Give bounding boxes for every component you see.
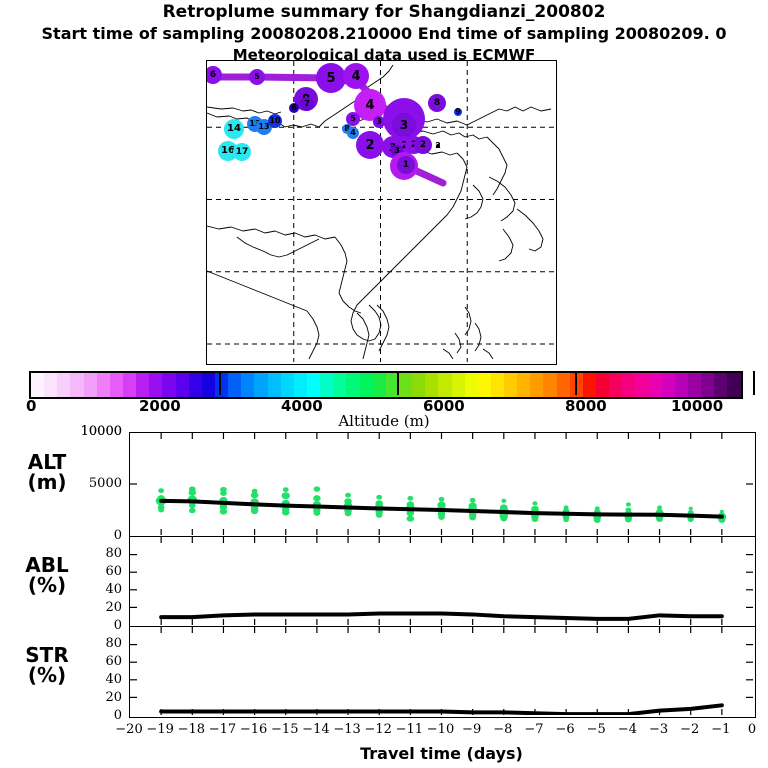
plume-marker-label: 9 [455,108,461,116]
alt-scatter-point [220,490,227,496]
sampling-times: Start time of sampling 20080208.210000 E… [0,24,768,43]
plume-marker: 3 [392,113,416,137]
x-tick-label: −20 [112,722,146,737]
plume-marker: 10 [268,114,282,128]
x-tick-label: −14 [299,722,333,737]
colorbar-swatch [399,373,412,397]
plume-marker-label: 4 [350,129,356,137]
alt-scatter-point [283,487,289,492]
colorbar-separator [575,371,577,395]
str-plot-area [130,627,753,715]
y-tick-label: 20 [60,690,122,705]
plume-marker: 6 [289,103,299,113]
colorbar-swatch [254,373,267,397]
alt-scatter-point [407,496,413,501]
page-title: Retroplume summary for Shangdianzi_20080… [0,2,768,22]
x-tick-label: −16 [237,722,271,737]
altitude-colorbar[interactable] [29,371,743,399]
alt-scatter-point [407,516,415,522]
alt-scatter-point [438,514,445,520]
colorbar-swatch [294,373,307,397]
colorbar-swatch [478,373,491,397]
alt-scatter-point [376,512,383,518]
alt-scatter-point [282,492,290,499]
alt-scatter-point [282,509,290,515]
alt-scatter-point [689,507,693,510]
x-tick-label: −13 [330,722,364,737]
colorbar-separator [219,371,221,395]
plume-marker-label: 6 [210,71,216,80]
alt-scatter-point [314,486,321,492]
y-tick-label: 0 [60,528,122,543]
colorbar-swatch [609,373,622,397]
colorbar-swatch [123,373,136,397]
x-tick-label: −19 [143,722,177,737]
colorbar-swatch [97,373,110,397]
plume-marker: 8 [428,94,446,112]
plume-marker-label: 4 [365,99,374,112]
plume-marker-label: 10 [269,117,280,125]
colorbar-swatch [228,373,241,397]
plume-marker-label: 2 [420,141,426,150]
colorbar-swatch [189,373,202,397]
x-tick-label: −17 [205,722,239,737]
x-tick-label: −18 [174,722,208,737]
colorbar-swatch [504,373,517,397]
colorbar-swatch [596,373,609,397]
colorbar-swatch [662,373,675,397]
colorbar-swatch [268,373,281,397]
colorbar-swatch [333,373,346,397]
alt-scatter-point [314,510,321,516]
y-tick-label: 80 [60,546,122,561]
colorbar-swatch [675,373,688,397]
colorbar-swatch [412,373,425,397]
alt-scatter-point [189,490,197,496]
colorbar-swatch [44,373,57,397]
plume-marker: 4 [343,63,369,89]
x-tick-label: −11 [392,722,426,737]
colorbar-swatch [530,373,543,397]
plume-marker-label: 5 [350,115,356,123]
alt-scatter-point [158,488,164,493]
colorbar-swatch [149,373,162,397]
colorbar-swatch [281,373,294,397]
plume-marker-label: 5 [326,72,335,85]
alt-scatter-point [532,516,539,522]
plume-marker: 2 [436,144,440,148]
x-tick-label: −3 [642,722,676,737]
alt-scatter-point [439,497,445,502]
alt-scatter-point [626,502,631,506]
colorbar-swatch [452,373,465,397]
colorbar-swatch [70,373,83,397]
alt-scatter-point [189,508,196,514]
colorbar-swatch [714,373,727,397]
plume-marker: 5 [316,63,346,93]
colorbar-swatch [373,373,386,397]
colorbar-swatch [346,373,359,397]
colorbar-swatch [583,373,596,397]
colorbar-swatch [110,373,123,397]
plume-marker-label: 2 [435,142,441,150]
y-tick-label: 40 [60,582,122,597]
y-tick-label: 60 [60,564,122,579]
colorbar-swatch [162,373,175,397]
plume-marker-label: 7 [304,100,310,108]
x-tick-label: −8 [486,722,520,737]
x-tick-label: −6 [548,722,582,737]
alt-plot-area [130,433,753,535]
abl-line [161,614,722,619]
colorbar-swatch [517,373,530,397]
plume-marker-label: 1 [403,161,409,170]
alt-scatter-point [563,517,569,522]
alt-scatter-point [470,498,476,503]
alt-label-line1: ALT [8,452,86,472]
x-tick-label: −2 [673,722,707,737]
colorbar-swatch [701,373,714,397]
colorbar-swatch [215,373,228,397]
colorbar-swatch [360,373,373,397]
plume-marker-label: 17 [236,148,249,157]
y-tick-label: 20 [60,600,122,615]
plume-marker-label: 6 [291,104,297,112]
colorbar-swatch [465,373,478,397]
colorbar-swatch [136,373,149,397]
plume-marker-label: 3 [400,119,408,131]
plume-marker: 5 [249,69,265,85]
colorbar-swatch [320,373,333,397]
colorbar-swatch [31,373,44,397]
x-tick-label: −12 [361,722,395,737]
colorbar-swatch [425,373,438,397]
colorbar-separator [397,371,399,395]
plume-marker-label: 4 [351,70,360,83]
x-tick-label: −4 [610,722,644,737]
alt-scatter-point [501,499,506,503]
x-tick-label: −5 [579,722,613,737]
y-tick-label: 10000 [60,424,122,439]
colorbar-swatch [635,373,648,397]
y-tick-label: 0 [60,618,122,633]
x-tick-label: −7 [517,722,551,737]
y-tick-label: 0 [60,708,122,723]
x-tick-label: −10 [424,722,458,737]
colorbar-separator [753,371,755,395]
y-tick-label: 80 [60,636,122,651]
y-tick-label: 60 [60,654,122,669]
abl-plot-area [130,537,753,625]
colorbar-swatch [727,373,740,397]
plume-marker: 1 [397,156,415,174]
alt-scatter-point [376,495,382,500]
plume-marker-label: 3 [376,118,382,126]
plume-marker-label: 14 [227,124,241,134]
plume-marker: 17 [233,143,251,161]
alt-scatter-point [189,503,196,509]
alt-scatter-point [594,517,601,523]
plume-marker: 7 [300,97,314,111]
retroplume-map[interactable]: 6554876489131310141617538433232223211 [206,60,557,365]
alt-scatter-point [656,516,663,522]
alt-scatter-point [625,517,632,523]
plume-marker-label: 5 [254,73,260,81]
alt-scatter-point [220,508,228,514]
colorbar-swatch [438,373,451,397]
plume-marker: 2 [356,131,384,159]
alt-scatter-point [532,501,537,505]
alt-scatter-point [251,508,259,514]
alt-scatter-point [251,492,259,498]
alt-scatter-point [345,511,352,517]
abl-chart-panel[interactable] [129,536,756,628]
alt-scatter-point [469,515,476,521]
alt-scatter-point [345,493,351,498]
colorbar-swatch [557,373,570,397]
colorbar-swatch [241,373,254,397]
colorbar-swatch [491,373,504,397]
plume-marker-label: 2 [365,139,374,152]
plume-marker-label: 8 [434,99,440,108]
plume-marker: 2 [414,136,432,154]
y-tick-label: 40 [60,672,122,687]
str-chart-panel[interactable] [129,626,756,718]
alt-scatter-point [313,495,321,501]
x-tick-label: −9 [455,722,489,737]
plume-marker: 14 [224,119,244,139]
colorbar-swatch [688,373,701,397]
x-axis-label: Travel time (days) [129,744,754,763]
colorbar-swatch [176,373,189,397]
y-tick-label: 5000 [60,476,122,491]
colorbar-swatch [649,373,662,397]
colorbar-swatch [202,373,215,397]
colorbar-swatch [307,373,320,397]
x-tick-label: 0 [735,722,768,737]
str-line [161,705,722,714]
plume-marker: 9 [454,108,462,116]
colorbar-swatch [543,373,556,397]
colorbar-swatch [622,373,635,397]
colorbar-swatch [57,373,70,397]
alt-scatter-point [500,516,507,522]
alt-scatter-point [158,508,164,513]
colorbar-swatch [84,373,97,397]
x-tick-label: −15 [268,722,302,737]
alt-scatter-point [688,517,694,522]
x-tick-label: −1 [704,722,738,737]
alt-chart-panel[interactable] [129,432,756,538]
